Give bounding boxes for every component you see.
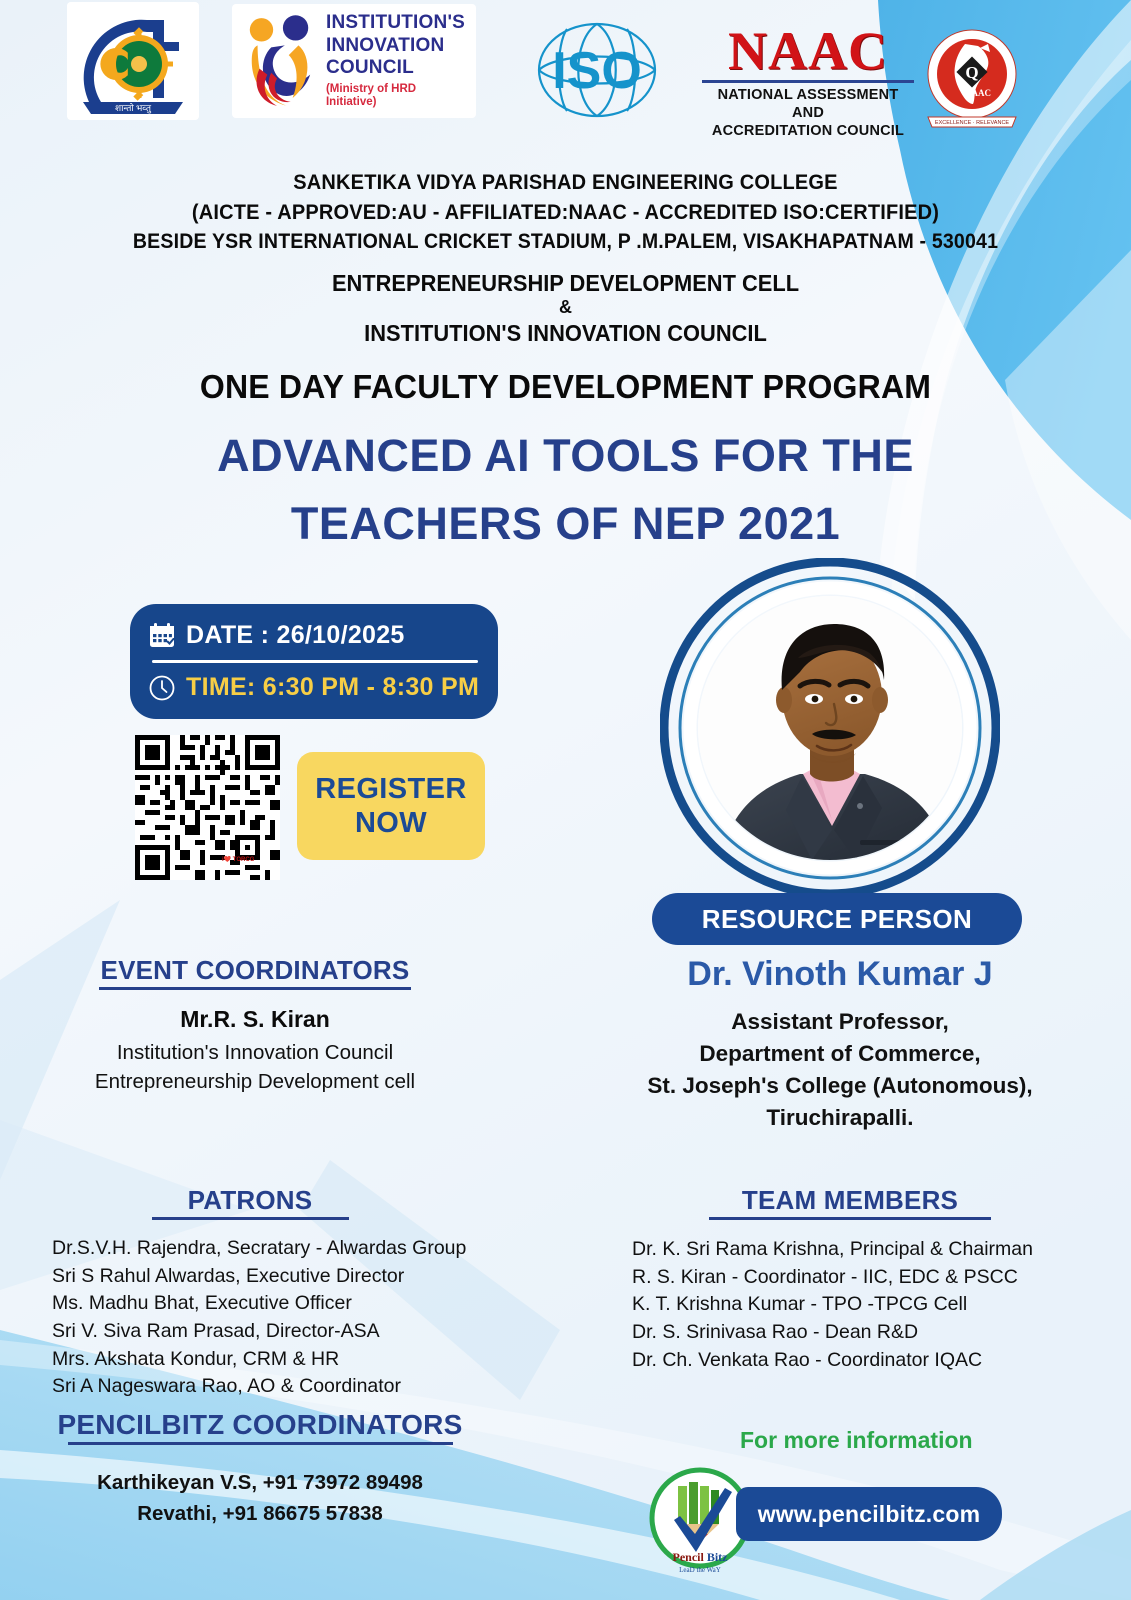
schedule-card: DATE : 26/10/2025 TIME: 6:30 PM - 8:30 P… xyxy=(130,604,498,719)
website-button[interactable]: www.pencilbitz.com xyxy=(736,1487,1002,1541)
iic-line2: INNOVATION xyxy=(326,35,466,57)
pencilbitz-coordinators-heading: PENCILBITZ COORDINATORS xyxy=(30,1409,490,1445)
list-item: K. T. Krishna Kumar - TPO -TPCG Cell xyxy=(632,1291,1102,1319)
resource-person-photo xyxy=(660,558,1000,898)
resource-person-badge-label: RESOURCE PERSON xyxy=(702,904,972,935)
program-kicker: ONE DAY FACULTY DEVELOPMENT PROGRAM xyxy=(17,368,1114,406)
resource-person-details: Assistant Professor, Department of Comme… xyxy=(580,1006,1100,1134)
event-date: DATE : 26/10/2025 xyxy=(186,621,405,650)
institutions-innovation-council-logo: INSTITUTION'S INNOVATION COUNCIL (Minist… xyxy=(232,4,476,118)
iic-text-block: INSTITUTION'S INNOVATION COUNCIL (Minist… xyxy=(326,12,466,109)
resource-person-name: Dr. Vinoth Kumar J xyxy=(600,955,1080,994)
pencilbitz-coordinators-list: Karthikeyan V.S, +91 73972 89498 Revathi… xyxy=(30,1467,490,1529)
naac-seal-banner: EXCELLENCE · RELEVANCE xyxy=(935,120,1010,126)
date-row: DATE : 26/10/2025 xyxy=(148,612,482,658)
list-item: Karthikeyan V.S, +91 73972 89498 xyxy=(30,1467,490,1498)
list-item: Sri A Nageswara Rao, AO & Coordinator xyxy=(52,1373,552,1401)
resource-detail-line: Assistant Professor, xyxy=(580,1006,1100,1038)
resource-person-badge: RESOURCE PERSON xyxy=(652,893,1022,945)
schedule-divider xyxy=(152,660,478,663)
list-item: Dr. K. Sri Rama Krishna, Principal & Cha… xyxy=(632,1236,1102,1264)
team-members-list: Dr. K. Sri Rama Krishna, Principal & Cha… xyxy=(632,1236,1102,1374)
register-line2: NOW xyxy=(355,808,427,838)
svg-text:शान्तो भव्तु: शान्तो भव्तु xyxy=(115,102,152,114)
event-coordinators-heading: EVENT COORDINATORS xyxy=(30,955,480,990)
list-item: Dr.S.V.H. Rajendra, Secratary - Alwardas… xyxy=(52,1235,552,1263)
naac-wordmark: NAAC xyxy=(702,26,914,77)
list-item: Sri S Rahul Alwardas, Executive Director xyxy=(52,1263,552,1291)
pencil-bitz-name: Pencil Bitz xyxy=(673,1550,729,1564)
event-coordinators-heading-label: EVENT COORDINATORS xyxy=(30,955,480,986)
more-info-label: For more information xyxy=(740,1427,1040,1454)
register-line1: REGISTER xyxy=(315,774,466,804)
cell-iic: INSTITUTION'S INNOVATION COUNCIL xyxy=(40,318,1092,348)
svg-text:Q: Q xyxy=(965,63,978,82)
team-members-heading: TEAM MEMBERS xyxy=(640,1185,1060,1220)
event-coordinator-name: Mr.R. S. Kiran xyxy=(30,1006,480,1033)
calendar-icon xyxy=(148,621,176,649)
patrons-heading: PATRONS xyxy=(30,1185,470,1220)
cell-edc: ENTREPRENEURSHIP DEVELOPMENT CELL xyxy=(40,268,1092,298)
list-item: Mrs. Akshata Kondur, CRM & HR xyxy=(52,1346,552,1374)
qr-caption: i❤️ TORCG xyxy=(222,856,254,863)
team-members-heading-label: TEAM MEMBERS xyxy=(640,1185,1060,1216)
website-url: www.pencilbitz.com xyxy=(758,1501,981,1528)
event-coordinator-affiliation-line: Institution's Innovation Council xyxy=(20,1038,490,1067)
program-title: ADVANCED AI TOOLS FOR THE TEACHERS OF NE… xyxy=(0,422,1131,557)
pencilbitz-heading-label: PENCILBITZ COORDINATORS xyxy=(30,1409,490,1441)
program-title-line1: ADVANCED AI TOOLS FOR THE xyxy=(0,422,1131,490)
sanketika-vidya-parishad-logo: शान्तो भव्तु xyxy=(67,2,199,120)
college-accreditation: (AICTE - APPROVED:AU - AFFILIATED:NAAC -… xyxy=(40,198,1092,228)
college-name: SANKETIKA VIDYA PARISHAD ENGINEERING COL… xyxy=(40,168,1092,198)
naac-subtitle-line2: ACCREDITATION COUNCIL xyxy=(702,123,914,141)
list-item: R. S. Kiran - Coordinator - IIC, EDC & P… xyxy=(632,1264,1102,1292)
clock-icon xyxy=(148,674,176,702)
college-location: BESIDE YSR INTERNATIONAL CRICKET STADIUM… xyxy=(40,227,1092,256)
patrons-heading-label: PATRONS xyxy=(30,1185,470,1216)
patrons-list: Dr.S.V.H. Rajendra, Secratary - Alwardas… xyxy=(52,1235,552,1401)
heading-underline xyxy=(68,1442,453,1445)
list-item: Revathi, +91 86675 57838 xyxy=(30,1498,490,1529)
list-item: Dr. S. Srinivasa Rao - Dean R&D xyxy=(632,1319,1102,1347)
iic-line3: COUNCIL xyxy=(326,57,466,79)
organizing-cells-block: ENTREPRENEURSHIP DEVELOPMENT CELL & INST… xyxy=(0,268,1131,348)
list-item: Ms. Madhu Bhat, Executive Officer xyxy=(52,1290,552,1318)
iic-subtitle: (Ministry of HRD Initiative) xyxy=(326,83,466,110)
college-address-block: SANKETIKA VIDYA PARISHAD ENGINEERING COL… xyxy=(0,168,1131,257)
resource-detail-line: Department of Commerce, xyxy=(580,1038,1100,1070)
event-time: TIME: 6:30 PM - 8:30 PM xyxy=(186,673,479,702)
resource-detail-line: St. Joseph's College (Autonomous), xyxy=(580,1070,1100,1102)
list-item: Sri V. Siva Ram Prasad, Director-ASA xyxy=(52,1318,552,1346)
naac-seal-label: NAAC xyxy=(965,88,991,98)
list-item: Dr. Ch. Venkata Rao - Coordinator IQAC xyxy=(632,1347,1102,1375)
iic-line1: INSTITUTION'S xyxy=(326,12,466,34)
iic-emblem-icon xyxy=(242,11,318,111)
heading-underline xyxy=(99,987,411,990)
poster-root: शान्तो भव्तु INSTITUTION'S INNOVATION CO… xyxy=(0,0,1131,1600)
pencil-bitz-tagline: LeaD the WaY xyxy=(679,1566,721,1574)
naac-seal-icon: Q NAAC EXCELLENCE · RELEVANCE xyxy=(918,24,1026,132)
iso-logo: ISO xyxy=(512,22,682,118)
time-row: TIME: 6:30 PM - 8:30 PM xyxy=(148,665,482,711)
event-coordinator-affiliation: Institution's Innovation Council Entrepr… xyxy=(20,1038,490,1096)
heading-underline xyxy=(709,1217,991,1220)
iso-label: ISO xyxy=(552,42,642,100)
cell-ampersand: & xyxy=(0,298,1131,318)
resource-detail-line: Tiruchirapalli. xyxy=(580,1102,1100,1134)
naac-logo: NAAC NATIONAL ASSESSMENT AND ACCREDITATI… xyxy=(702,26,914,122)
event-coordinator-affiliation-line: Entrepreneurship Development cell xyxy=(20,1067,490,1096)
register-now-button[interactable]: REGISTER NOW xyxy=(297,752,485,860)
naac-subtitle-line1: NATIONAL ASSESSMENT AND xyxy=(702,87,914,122)
program-title-line2: TEACHERS OF NEP 2021 xyxy=(0,490,1131,558)
heading-underline xyxy=(152,1217,349,1220)
qr-code[interactable] xyxy=(130,735,285,880)
